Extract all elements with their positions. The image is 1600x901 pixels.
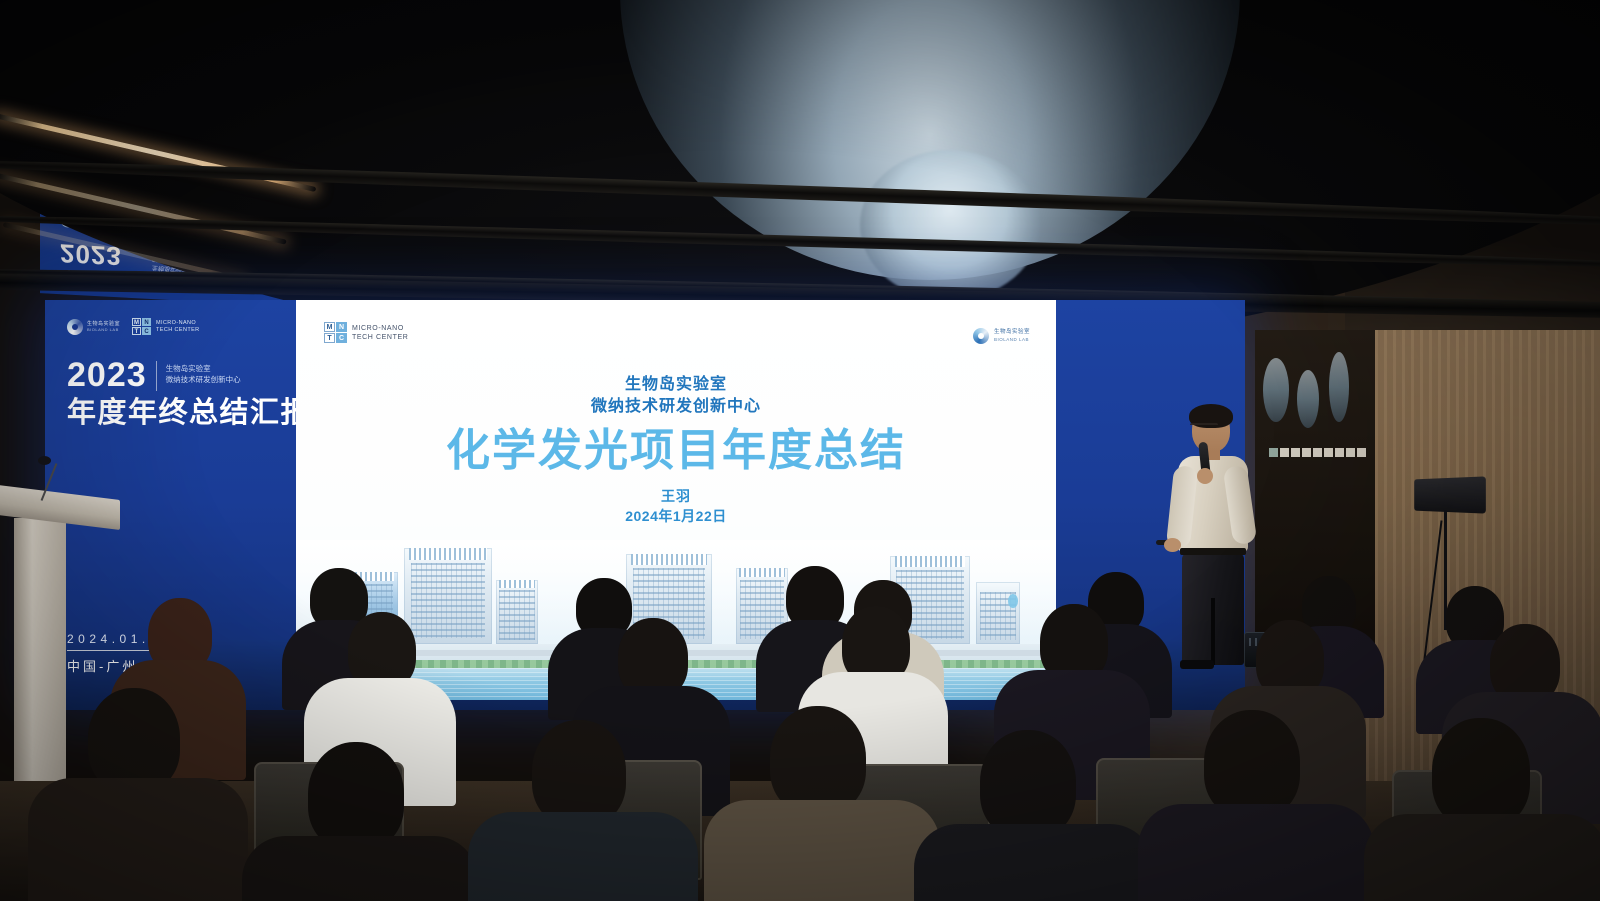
mntc-cell-m: M — [324, 322, 335, 332]
bioland-en: BIOLAND LAB — [994, 336, 1030, 343]
audience-shoulders — [704, 800, 940, 901]
key-cell — [1302, 448, 1311, 457]
bioland-swirl-icon — [67, 319, 83, 335]
mntc-cell-n: N — [336, 322, 347, 332]
audience-head — [532, 720, 626, 826]
audience-shoulders — [1138, 804, 1374, 901]
bioland-wordmark: 生物岛实验室 BIOLAND LAB — [994, 329, 1030, 343]
key-cell — [1335, 448, 1344, 457]
slide-text-block: 生物岛实验室 微纳技术研发创新中心 化学发光项目年度总结 王羽 2024年1月2… — [296, 374, 1056, 526]
audience — [0, 520, 1600, 901]
bioland-swirl-icon — [973, 328, 989, 344]
key-cell — [1291, 448, 1300, 457]
audience-shoulders — [28, 778, 248, 901]
panel-year-subtitle: 生物岛实验室 微纳技术研发创新中心 — [166, 358, 241, 385]
presenter-hand-mic — [1197, 468, 1213, 484]
panel-sub-line2: 微纳技术研发创新中心 — [166, 374, 241, 385]
bioland-cn: 生物岛实验室 — [994, 329, 1030, 336]
panel-year: 2023 — [67, 358, 147, 392]
mntc-wordmark: MICRO-NANO TECH CENTER — [352, 324, 408, 342]
key-cell — [1357, 448, 1366, 457]
key-cell — [1313, 448, 1322, 457]
wall-key-strip — [1269, 448, 1366, 457]
panel-oval-shape — [1297, 370, 1319, 428]
slide-subtitle-line1: 生物岛实验室 — [296, 374, 1056, 396]
key-cell — [1324, 448, 1333, 457]
mntc-letter-grid: M N T C — [132, 318, 151, 335]
slide-presenter-name: 王羽 — [296, 486, 1056, 506]
glasses-icon — [1190, 423, 1218, 429]
mntc-logo: M N T C MICRO-NANO TECH CENTER — [132, 318, 200, 335]
panel-year-divider — [156, 361, 157, 391]
gooseneck-microphone-head — [38, 456, 51, 465]
panel-heading: 年度年终总结汇报 — [67, 396, 311, 430]
panel-year-row: 2023 生物岛实验室 微纳技术研发创新中心 — [67, 358, 241, 392]
audience-head — [1432, 718, 1530, 828]
slide-subtitle-line2: 微纳技术研发创新中心 — [296, 396, 1056, 418]
ceiling-oval-highlight — [860, 150, 1040, 300]
conference-room-photo: 化学发光项目年度总结 微纳技术研发创新中心 M N T C MICRO-NANO… — [0, 0, 1600, 901]
panel-logos: 生物岛实验室 BIOLAND LAB M N T C MICRO-NANO TE… — [67, 318, 200, 335]
mntc-cell-m: M — [132, 318, 141, 326]
key-cell — [1269, 448, 1278, 457]
bioland-wordmark: 生物岛实验室 BIOLAND LAB — [87, 321, 120, 333]
slide-mntc-logo: M N T C MICRO-NANO TECH CENTER — [324, 322, 408, 343]
mntc-line1: MICRO-NANO — [352, 324, 408, 333]
audience-shoulders — [1364, 814, 1600, 901]
mntc-line2: TECH CENTER — [156, 327, 200, 334]
bioland-en: BIOLAND LAB — [87, 327, 120, 333]
audience-head — [1204, 710, 1300, 818]
key-cell — [1280, 448, 1289, 457]
panel-sub-line1: 生物岛实验室 — [166, 363, 241, 374]
mntc-cell-c: C — [142, 327, 151, 335]
mntc-line1: MICRO-NANO — [156, 320, 200, 327]
audience-shoulders — [242, 836, 478, 901]
mntc-cell-t: T — [324, 333, 335, 343]
key-cell — [1346, 448, 1355, 457]
loudspeaker — [1414, 476, 1486, 513]
slide-bioland-logo: 生物岛实验室 BIOLAND LAB — [973, 328, 1030, 344]
panel-oval-shape — [1329, 352, 1349, 422]
audience-head — [88, 688, 180, 792]
mntc-line2: TECH CENTER — [352, 333, 408, 342]
mntc-cell-c: C — [336, 333, 347, 343]
audience-shoulders — [914, 824, 1154, 901]
audience-shoulders — [468, 812, 698, 901]
mntc-cell-t: T — [132, 327, 141, 335]
audience-head — [980, 730, 1076, 838]
mntc-cell-n: N — [142, 318, 151, 326]
slide-title: 化学发光项目年度总结 — [296, 422, 1056, 480]
mntc-wordmark: MICRO-NANO TECH CENTER — [156, 320, 200, 334]
mntc-letter-grid: M N T C — [324, 322, 347, 343]
audience-head — [308, 742, 404, 850]
audience-head — [770, 706, 866, 814]
